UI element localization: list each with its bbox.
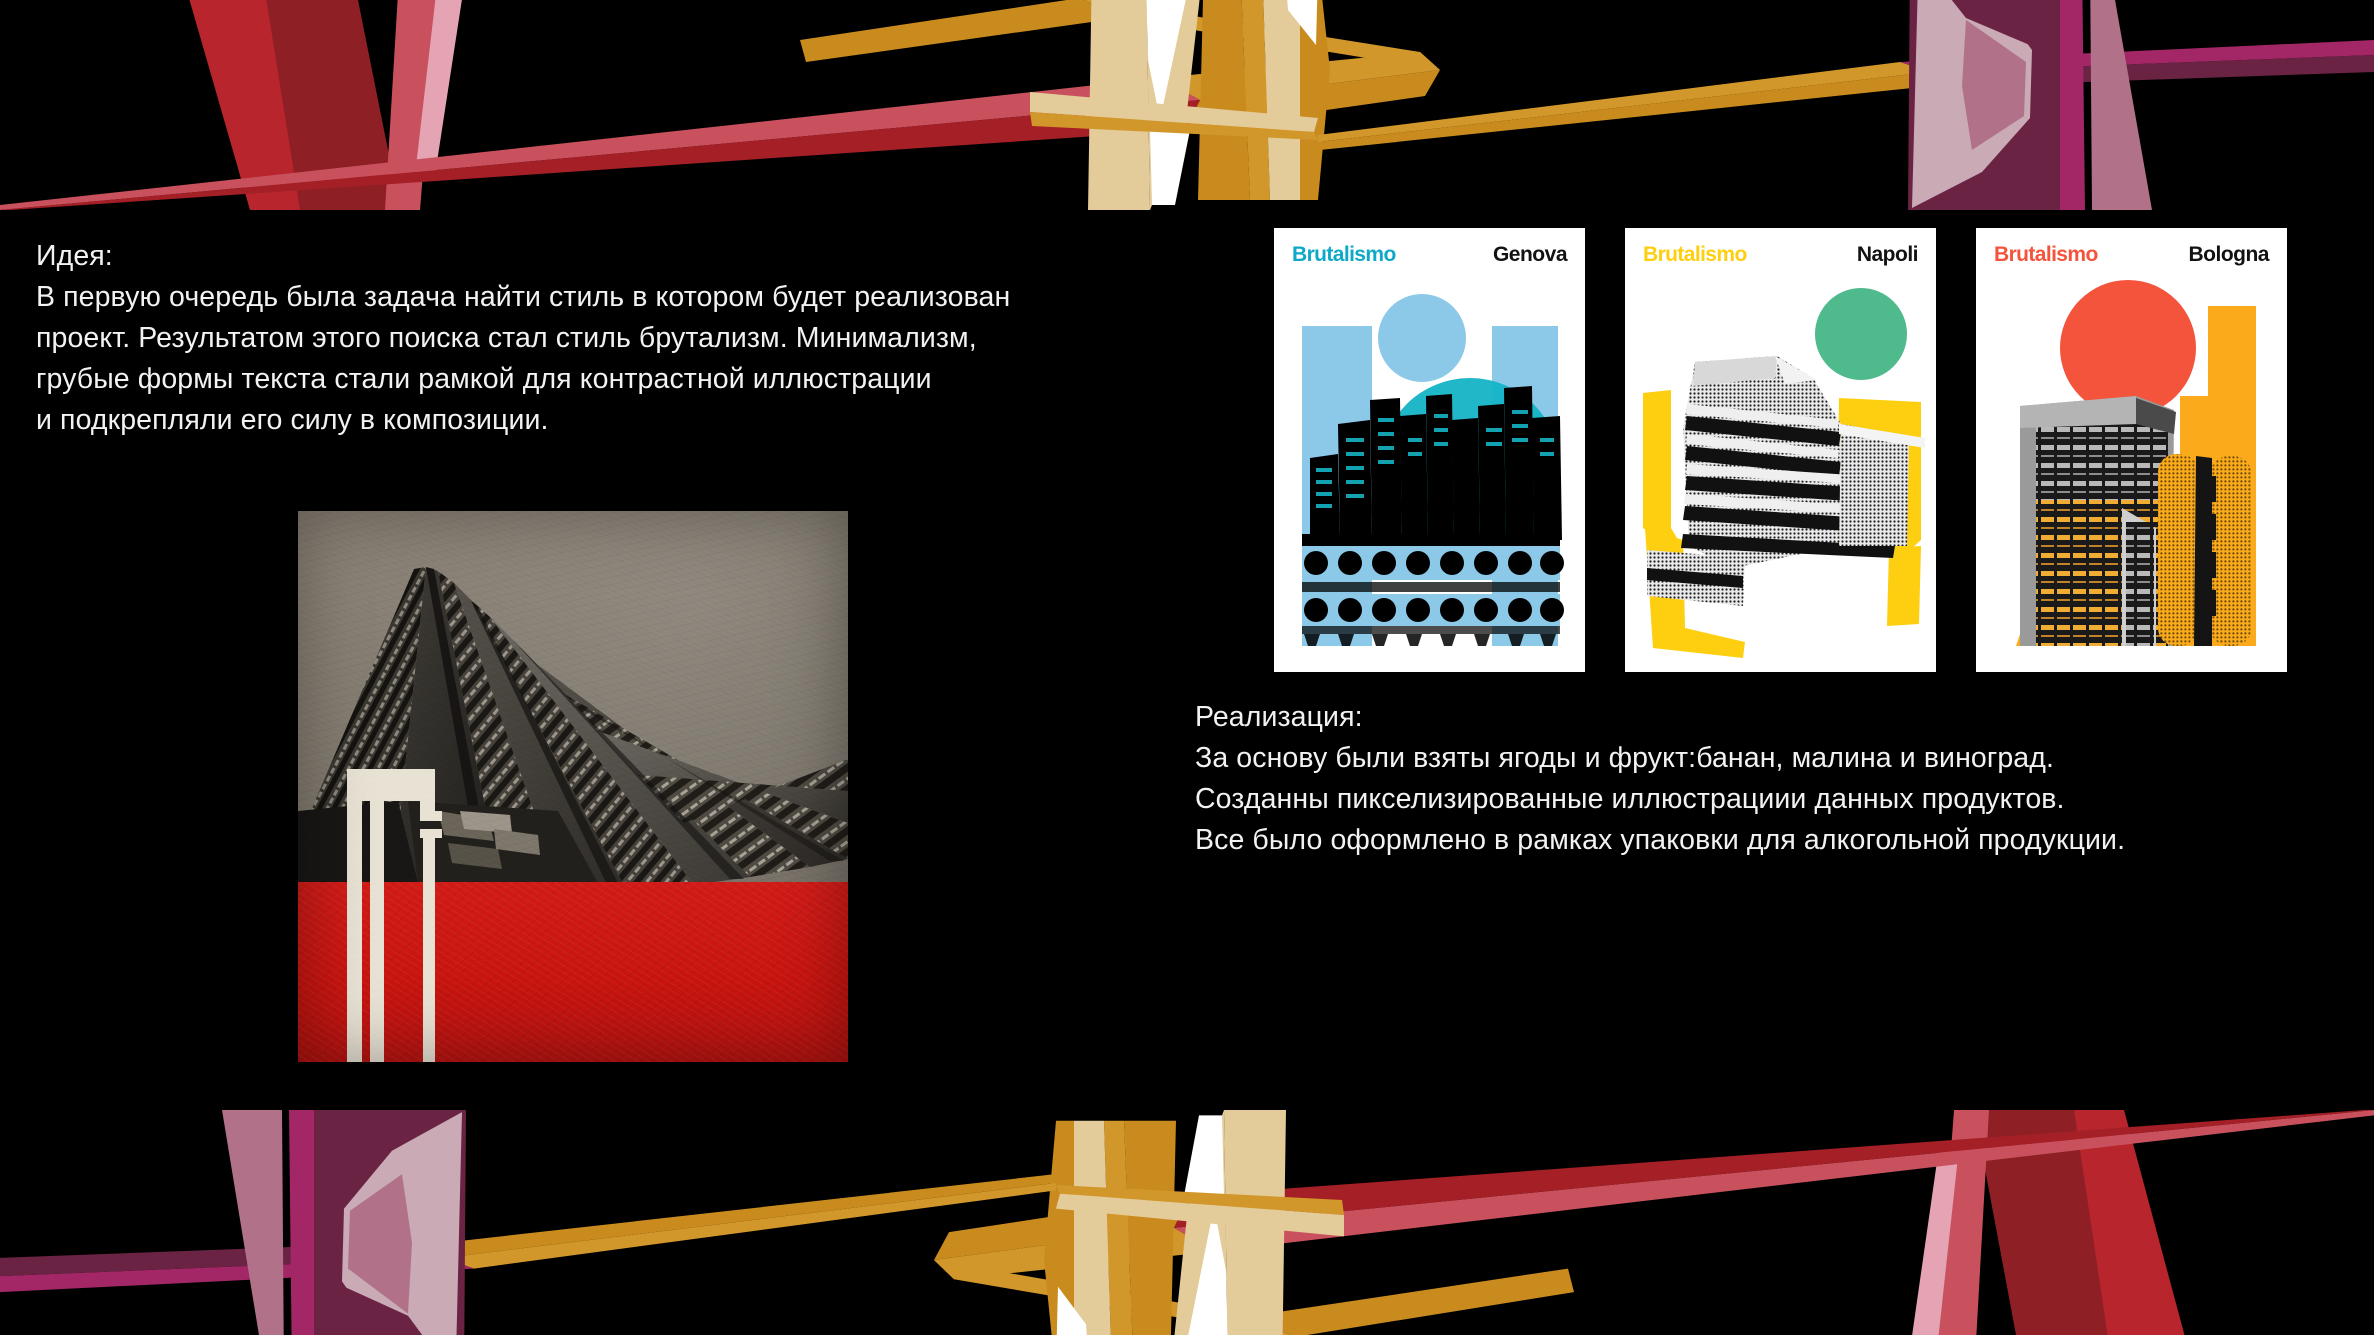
poster-brand-label: Brutalismo — [1994, 243, 2098, 267]
shape-white-notch-c-b — [1184, 1115, 1224, 1195]
shape-lilac-chevron — [1912, 0, 2032, 208]
shape-red-ribbon-lower-b — [1174, 1110, 2374, 1228]
shape-mauve-inner-b — [348, 1174, 412, 1313]
shape-white-notch-a-b — [1184, 1206, 1228, 1335]
shape-magenta-ribbon-a — [1900, 40, 2374, 72]
shape-ochre-diag-a — [1080, 0, 1440, 70]
poster-city-label: Bologna — [2189, 243, 2270, 267]
shape-ochre-ribbon-b — [1185, 70, 1440, 130]
shape-sand-facet-2 — [1146, 0, 1204, 210]
shape-red-wedge-b — [2074, 1110, 2196, 1335]
shape-ochre-diag-b — [800, 0, 1120, 62]
bologna-circle — [2060, 280, 2196, 416]
shape-plum-block — [1908, 0, 2060, 210]
shape-ochre-ribbon-right-a-b — [444, 1183, 1056, 1269]
photo-grain-overlay — [298, 511, 848, 1062]
abstract-geometric-band-top — [0, 0, 2374, 210]
shape-red-ribbon-lower — [0, 100, 1200, 210]
shape-ochre-ribbon-a-b — [934, 1228, 1214, 1279]
shape-gold-pillar-2 — [1240, 0, 1270, 200]
poster-city-label: Genova — [1493, 243, 1567, 267]
shape-lilac-chevron-b — [342, 1112, 462, 1335]
shape-sand-facet-b — [1056, 1121, 1112, 1335]
shape-magenta-ribbon-b-b — [0, 1241, 462, 1276]
napoli-yellow-bottom-right — [1887, 546, 1921, 626]
shape-magenta-ribbon-a-b — [0, 1258, 474, 1292]
shape-gold-pillar — [1198, 0, 1250, 200]
poster-bologna-header: Brutalismo Bologna — [1994, 242, 2269, 268]
poster-genova-art — [1274, 228, 1585, 672]
shape-white-notch-a — [1146, 0, 1190, 120]
bologna-cylinder-1 — [2158, 454, 2198, 646]
poster-brand-label: Brutalismo — [1292, 243, 1396, 267]
abstract-geometric-band-bottom — [0, 1110, 2374, 1335]
shape-pink-strip — [415, 0, 468, 175]
shape-gold-crossbeam-b — [1056, 1185, 1344, 1215]
shape-gold-facet — [1300, 0, 1330, 200]
poster-card-genova[interactable]: Brutalismo Genova — [1274, 228, 1585, 672]
shape-sand-crossbeam — [1030, 92, 1318, 132]
genova-podium — [1302, 546, 1564, 646]
shape-sand-pillar-b — [1224, 1110, 1286, 1335]
shape-mauve-wedge — [2090, 0, 2152, 210]
shape-ochre-ribbon-a — [1160, 52, 1440, 100]
realization-paragraph: Реализация: За основу были взяты ягоды и… — [1195, 697, 2355, 861]
shape-ochre-ribbon-right-a — [1318, 62, 1930, 142]
poster-napoli-header: Brutalismo Napoli — [1643, 242, 1918, 268]
shape-mauve-inner — [1962, 20, 2026, 150]
poster-city-label: Napoli — [1857, 243, 1918, 267]
napoli-circle — [1815, 288, 1907, 380]
genova-circle — [1378, 294, 1466, 382]
poster-napoli-art — [1625, 228, 1936, 672]
shape-white-notch-b — [1285, 0, 1318, 45]
shape-ochre-ribbon-b-b — [934, 1196, 1189, 1260]
bologna-cylinder-2 — [2210, 456, 2252, 646]
shape-gold-pillar-2-b — [1104, 1121, 1134, 1335]
shape-magenta-strip — [2060, 0, 2085, 210]
band-bottom-svg — [0, 1110, 2374, 1335]
shape-red-ribbon-upper — [0, 78, 1200, 210]
shape-magenta-thin-a — [1920, 0, 2374, 12]
poster-card-bologna[interactable]: Brutalismo Bologna — [1976, 228, 2287, 672]
shape-dark-red-wedge — [178, 0, 400, 210]
shape-plum-cap — [1920, 0, 2032, 46]
shape-sand-facet — [1262, 0, 1318, 200]
shape-ochre-diag-b-b — [1254, 1269, 1574, 1335]
shape-sand-crossbeam-b — [1056, 1194, 1344, 1237]
poster-genova-header: Brutalismo Genova — [1292, 242, 1567, 268]
shape-white-notch-c — [1150, 130, 1190, 205]
idea-paragraph: Идея: В первую очередь была задача найти… — [36, 236, 1216, 441]
slide-canvas: Идея: В первую очередь была задача найти… — [0, 0, 2374, 1335]
brutalist-tower-photo — [298, 511, 848, 1062]
shape-gold-crossbeam — [1030, 112, 1318, 140]
shape-rose-strip-b — [1934, 1110, 1989, 1335]
shape-rose-strip — [385, 0, 440, 210]
shape-ochre-ribbon-right-b — [1318, 72, 1930, 150]
band-top-svg — [0, 0, 2374, 210]
shape-plum-block-b — [314, 1110, 466, 1335]
poster-bologna-art — [1976, 228, 2287, 672]
shape-sand-facet-2-b — [1170, 1110, 1228, 1335]
shape-sand-pillar — [1088, 0, 1150, 210]
shape-magenta-ribbon-b — [1912, 55, 2374, 88]
poster-card-napoli[interactable]: Brutalismo Napoli — [1625, 228, 1936, 672]
shape-pink-strip-b — [1906, 1148, 1959, 1335]
shape-plum-cap-b — [342, 1286, 454, 1335]
bologna-tower-side-grid — [2126, 522, 2154, 646]
shape-ochre-diag-a-b — [934, 1260, 1294, 1335]
shape-gold-facet-b — [1044, 1121, 1074, 1335]
shape-white-notch-b-b — [1056, 1287, 1089, 1335]
shape-dark-red-wedge-b — [1974, 1110, 2196, 1335]
poster-brand-label: Brutalismo — [1643, 243, 1747, 267]
shape-gold-pillar-b — [1124, 1121, 1176, 1335]
shape-ochre-ribbon-right-b-b — [444, 1174, 1056, 1258]
shape-magenta-strip-b — [289, 1110, 314, 1335]
shape-mauve-wedge-b — [222, 1110, 284, 1335]
shape-red-wedge — [178, 0, 300, 210]
poster-gallery: Brutalismo Genova — [1274, 228, 2288, 674]
shape-red-ribbon-upper-b — [1174, 1110, 2374, 1251]
shape-magenta-thin-a-b — [0, 1322, 454, 1335]
